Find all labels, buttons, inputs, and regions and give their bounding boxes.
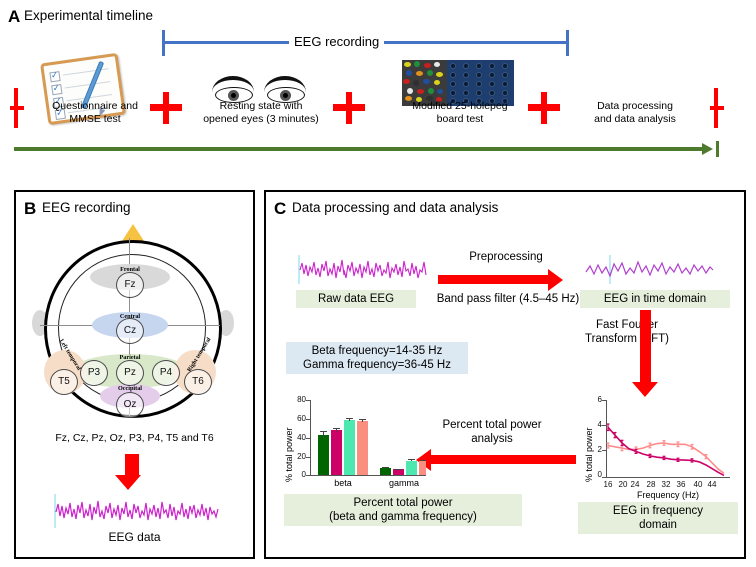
analysis-arrow-left [416,450,576,472]
frequency-spectrum-chart: % total power 6 4 2 0 [578,398,734,506]
bar-ytick-40: 40 [288,433,306,442]
bar-y-axis [310,400,311,476]
bar-x-axis [310,475,426,476]
region-label-occipital: Occipital [100,385,160,392]
bar-group-label-gamma: gamma [381,478,427,488]
bracket-label: EEG recording [289,34,384,49]
percent-total-power-analysis-label: Percent total power analysis [412,418,572,446]
bar-gamma-group-2 [393,469,404,475]
panel-b-title: EEG recording [42,201,131,215]
electrode-fz[interactable]: Fz [116,272,144,298]
frequency-band-info-box: Beta frequency=14-35 Hz Gamma frequency=… [286,342,468,374]
freq-chart-xlabel: Frequency (Hz) [598,490,738,500]
bar-ytick-20: 20 [288,452,306,461]
freq-domain-caption: EEG in frequency domain [578,502,738,534]
bar-gamma-group-1 [380,468,391,476]
raw-eeg-waveform-svg [294,254,430,286]
panel-b-eeg-recording: B EEG recording Frontal Central Parietal… [14,190,255,559]
bar-beta-group-1 [318,435,329,475]
timeline-step-2-label: Resting state with opened eyes (3 minute… [186,100,336,125]
bar-ytick-60: 60 [288,414,306,423]
bar-ytick-80: 80 [288,395,306,404]
bar-beta-group-2 [331,430,342,475]
fft-arrow-down [634,310,664,402]
electrode-list-label: Fz, Cz, Pz, Oz, P3, P4, T5 and T6 [16,432,253,444]
freq-ytick-0: 0 [588,470,602,479]
bar-ytick-0: 0 [288,470,306,479]
bracket-right-cap [566,30,569,56]
preprocessing-arrow-right [438,270,578,292]
panel-c-title: Data processing and data analysis [292,201,498,215]
time-domain-waveform-svg [584,254,714,286]
electrode-oz[interactable]: Oz [116,392,144,418]
freq-ytick-6: 6 [588,395,602,404]
electrode-cz[interactable]: Cz [116,318,144,344]
timeline-step-3-label: Modified 25-holepeg board test [390,100,530,125]
freq-ytick-4: 4 [588,420,602,429]
raw-data-eeg-caption: Raw data EEG [296,290,416,308]
timeline-step-1-label: Questionnaire and MMSE test [30,100,160,125]
panel-c-letter: C [274,200,286,217]
freq-xtick-36: 36 [674,480,688,489]
bar-beta-group-4 [357,421,368,475]
bar-chart-caption: Percent total power (beta and gamma freq… [284,494,522,526]
raw-eeg-waveform [294,254,430,286]
preprocessing-title: Preprocessing [426,250,586,264]
eeg-waveform-raw [48,492,223,530]
electrode-t5[interactable]: T5 [50,369,78,395]
time-domain-caption: EEG in time domain [580,290,730,308]
nose-marker-icon [122,224,144,241]
electrode-t6[interactable]: T6 [184,369,212,395]
panel-b-letter: B [24,200,36,217]
bar-group-label-beta: beta [322,478,364,488]
electrode-pz[interactable]: Pz [116,360,144,386]
freq-xtick-28: 28 [644,480,658,489]
eeg-electrode-head-map: Frontal Central Parietal Occipital Left … [28,224,238,424]
freq-xtick-44: 44 [705,480,719,489]
bar-gamma-group-4 [419,461,426,475]
electrode-p4[interactable]: P4 [152,360,180,386]
freq-xtick-24: 24 [628,480,642,489]
eeg-data-caption: EEG data [16,530,253,544]
time-domain-waveform [584,254,714,286]
electrode-p3[interactable]: P3 [80,360,108,386]
bar-gamma-group-3 [406,461,417,475]
panel-a-letter: A [8,8,20,25]
freq-xtick-40: 40 [691,480,705,489]
panel-b-flow-arrow-down [117,454,153,492]
panel-c-data-processing: C Data processing and data analysis Raw … [264,190,746,559]
freq-ytick-2: 2 [588,445,602,454]
panel-a-experimental-timeline: A Experimental timeline EEG recording ✓ … [0,0,756,172]
freq-xtick-32: 32 [659,480,673,489]
freq-xtick-16: 16 [601,480,615,489]
percent-total-power-bar-chart: % total power 80 60 40 20 0 [280,398,436,498]
timeline-step-4-label: Data processing and data analysis [570,100,700,125]
eeg-waveform-svg [48,492,223,530]
panel-a-title: Experimental timeline [24,9,153,23]
fft-label: Fast Fourier Transform (FFT) [562,318,692,346]
freq-spectrum-curves [606,400,730,478]
preprocessing-subtitle: Band pass filter (4.5–45 Hz) [408,292,608,306]
bar-beta-group-3 [344,420,355,475]
